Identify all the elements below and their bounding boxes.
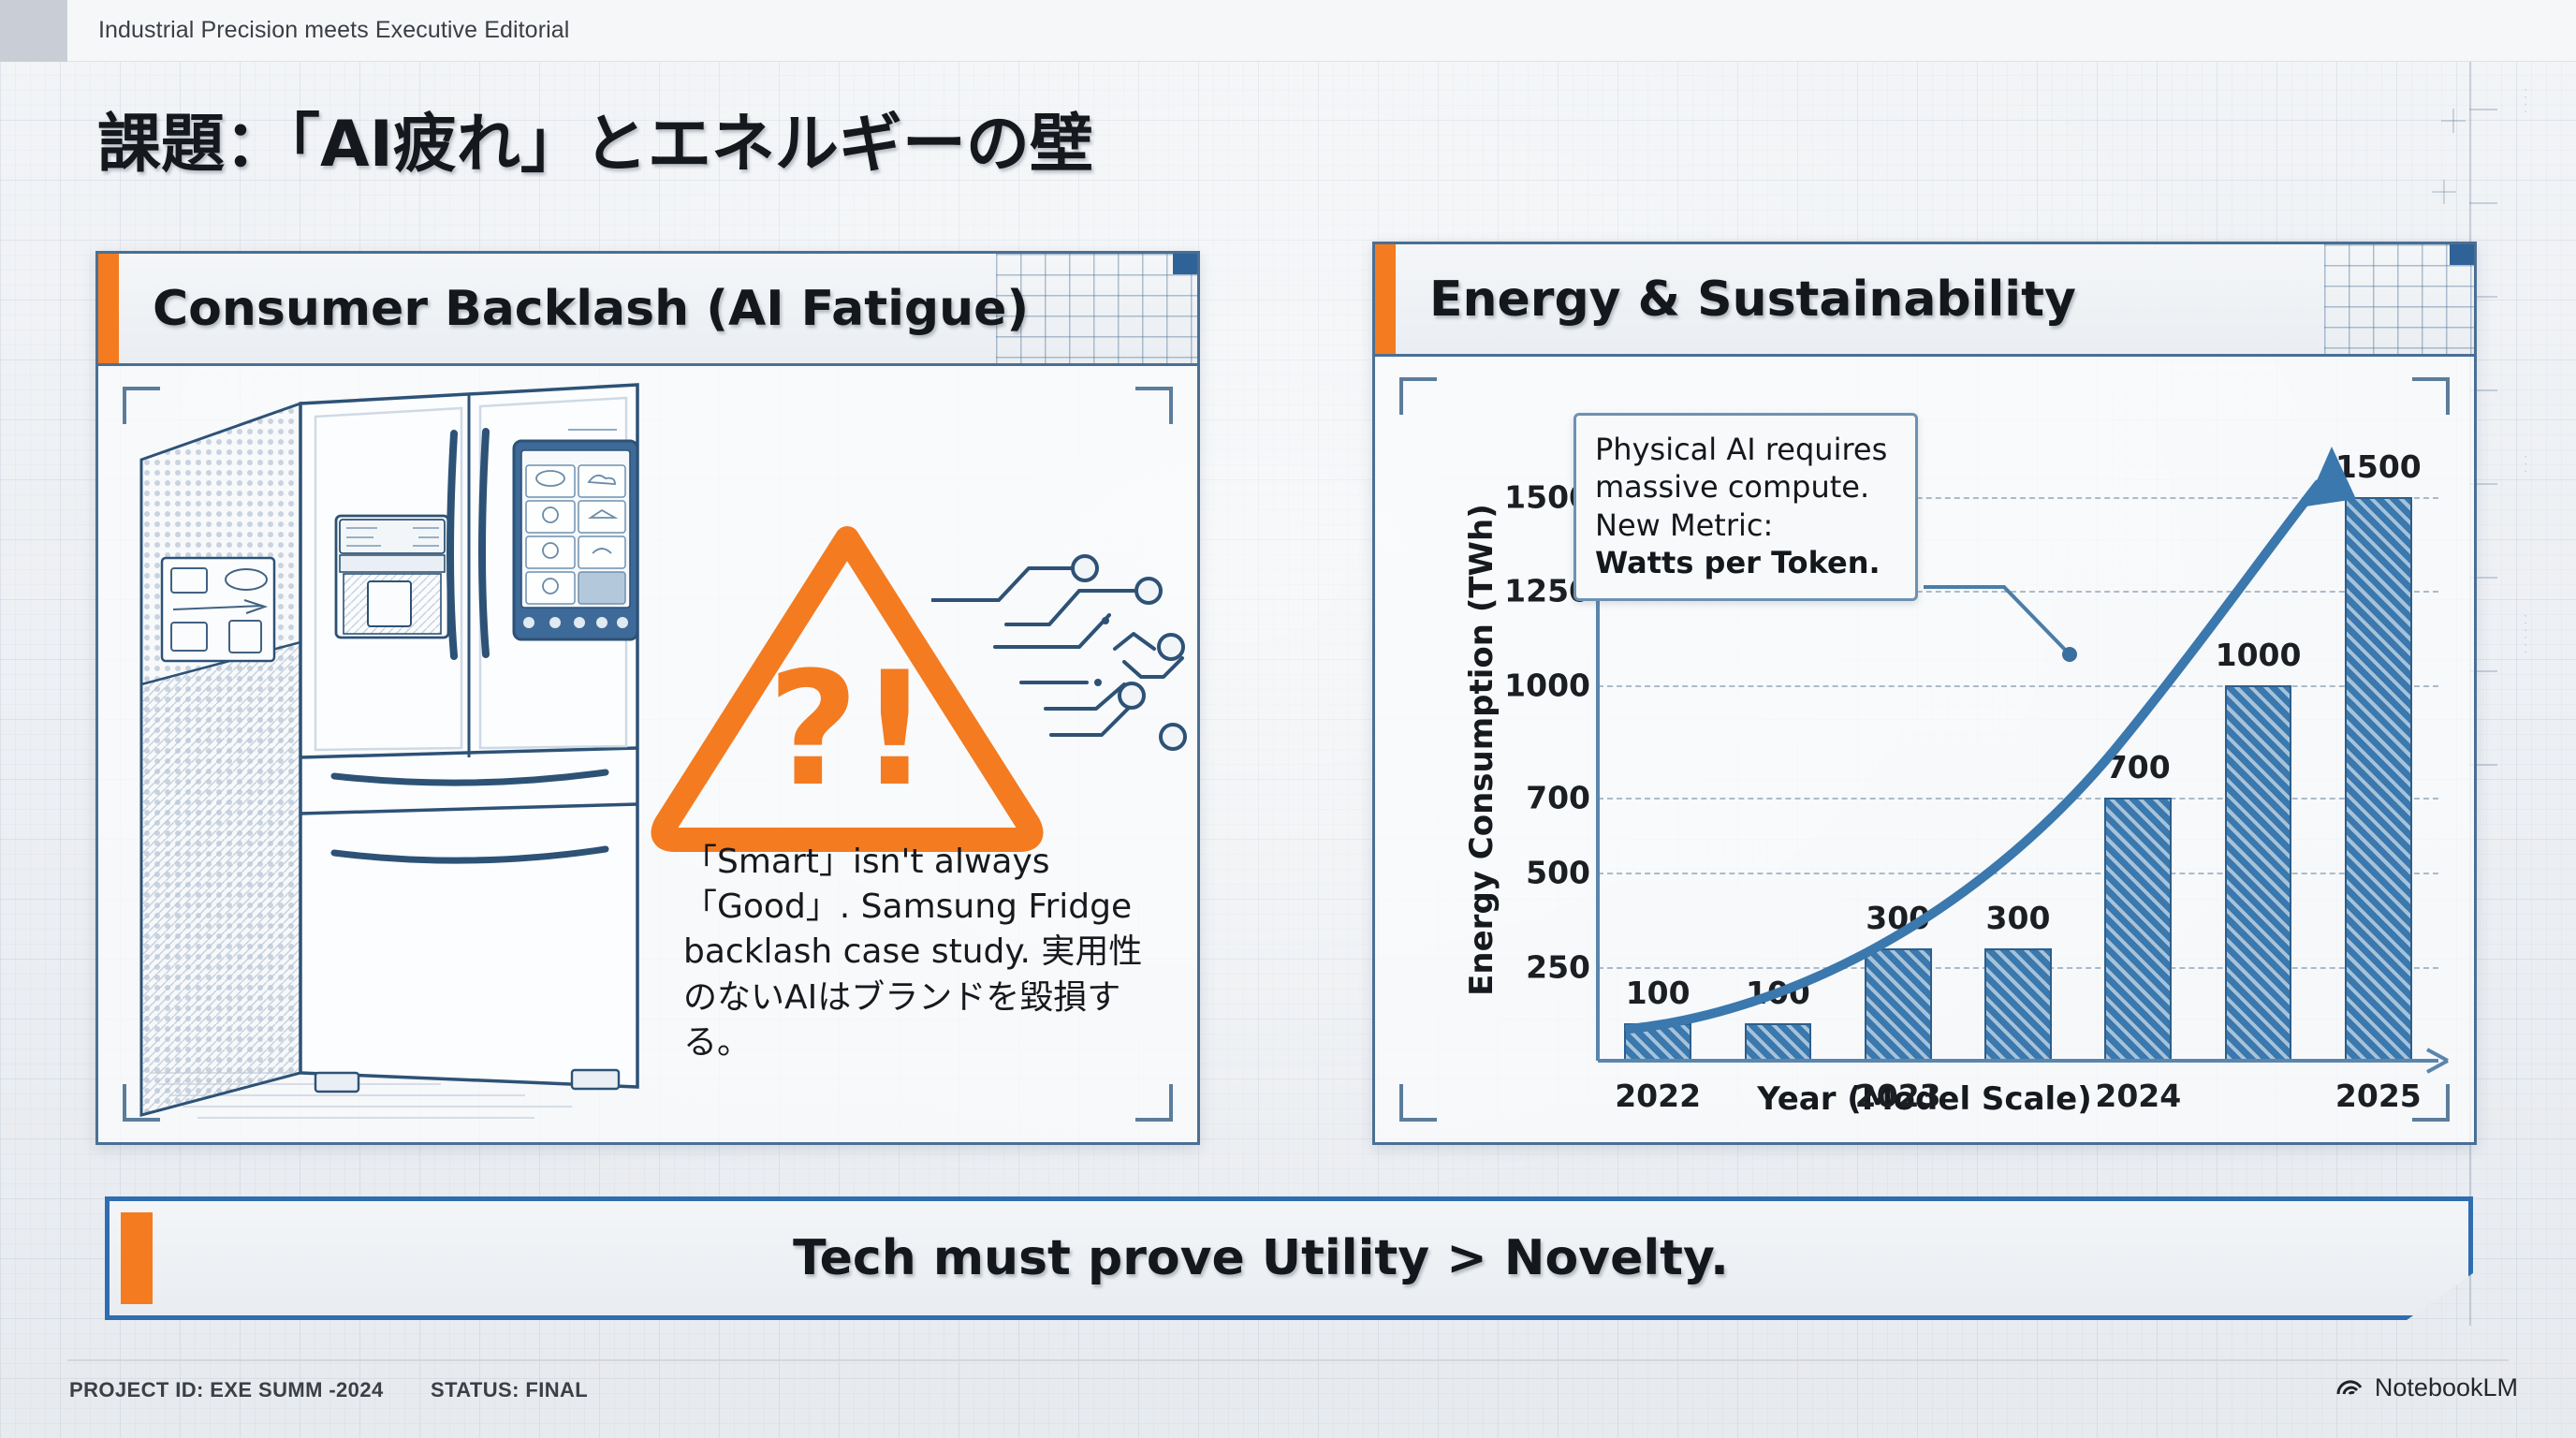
panel-consumer-backlash: Consumer Backlash (AI Fatigue) — [95, 251, 1200, 1145]
panel-right-body: Energy Consumption (TWh) 250500700100012… — [1375, 357, 2474, 1142]
x-tick-label: 2023 — [1855, 1078, 1941, 1114]
banner-text: Tech must prove Utility > Novelty. — [110, 1201, 2468, 1315]
y-tick-label: 1000 — [1504, 667, 1590, 703]
orange-accent-bar — [98, 254, 119, 363]
chart-bar — [1624, 1023, 1691, 1061]
bar-value-label: 1000 — [2216, 637, 2302, 673]
callout-line-2: massive compute. — [1595, 468, 1898, 506]
warning-glyph: ?! — [768, 638, 930, 821]
top-bar-corner-block — [0, 0, 67, 62]
chart-bar — [1984, 948, 2052, 1061]
callout-box: Physical AI requires massive compute. Ne… — [1573, 413, 1918, 601]
bar-value-label: 1500 — [2335, 448, 2422, 485]
chart-bar — [2104, 798, 2172, 1061]
left-panel-caption: 「Smart」isn't always「Good」. Samsung Fridg… — [683, 840, 1170, 1065]
brand-notebooklm: NotebookLM — [2335, 1372, 2518, 1403]
x-tick-label: 2025 — [2335, 1078, 2422, 1114]
hatch-corner-cap — [1173, 254, 1197, 274]
chart-gridline — [1598, 685, 2438, 687]
x-tick-label: 2022 — [1615, 1078, 1701, 1114]
footer-divider — [67, 1359, 2509, 1361]
smart-fridge-illustration — [132, 375, 694, 1143]
header-hatch-pattern — [2324, 244, 2474, 354]
bar-value-label: 700 — [2106, 749, 2171, 785]
y-tick-label: 500 — [1526, 855, 1590, 891]
bar-value-label: 300 — [1866, 900, 1930, 936]
top-bar-label: Industrial Precision meets Executive Edi… — [98, 17, 569, 44]
y-tick-label: 700 — [1526, 780, 1590, 816]
callout-line-4-metric: Watts per Token. — [1595, 544, 1898, 581]
chart-gridline — [1598, 873, 2438, 874]
bar-value-label: 300 — [1986, 900, 2051, 936]
x-tick-label: 2024 — [2095, 1078, 2181, 1114]
chart-gridline — [1598, 798, 2438, 800]
panel-energy-sustainability: Energy & Sustainability Energy Consumpti… — [1372, 242, 2477, 1145]
footer-status: STATUS: FINAL — [431, 1378, 588, 1402]
panel-right-header: Energy & Sustainability — [1375, 244, 2474, 357]
panel-right-title: Energy & Sustainability — [1429, 271, 2076, 328]
brand-label: NotebookLM — [2375, 1373, 2518, 1402]
panel-left-header: Consumer Backlash (AI Fatigue) — [98, 254, 1197, 366]
hatch-corner-cap — [2450, 244, 2474, 265]
orange-accent-bar — [1375, 244, 1396, 354]
slide-canvas: · · · · · · · · · · · · · Industrial Pre… — [0, 0, 2576, 1438]
bar-value-label: 100 — [1746, 975, 1810, 1011]
chart-bar — [1865, 948, 1932, 1061]
y-axis-label-holder: Energy Consumption (TWh) — [1427, 357, 1484, 1142]
callout-line-3: New Metric: — [1595, 506, 1898, 544]
y-tick-label: 250 — [1526, 948, 1590, 985]
corner-bracket-bottom-right — [1135, 1084, 1173, 1122]
page-title: 課題：「AI疲れ」とエネルギーの壁 — [97, 92, 1093, 184]
key-takeaway-banner: Tech must prove Utility > Novelty. — [105, 1196, 2473, 1320]
chart-bar — [2345, 497, 2412, 1061]
corner-bracket-top-right — [1135, 387, 1173, 424]
callout-line-1: Physical AI requires — [1595, 431, 1898, 468]
footer-project-id: PROJECT ID: EXE SUMM -2024 — [69, 1378, 384, 1402]
chart-bar — [2225, 685, 2292, 1061]
bar-value-label: 100 — [1626, 975, 1690, 1011]
chart-bar — [1745, 1023, 1812, 1061]
panel-left-title: Consumer Backlash (AI Fatigue) — [153, 281, 1029, 337]
panel-left-body: ?! 「Smart」isn't always「Good」. Samsung Fr… — [98, 366, 1197, 1142]
energy-consumption-chart: Energy Consumption (TWh) 250500700100012… — [1375, 357, 2474, 1142]
top-bar: Industrial Precision meets Executive Edi… — [0, 0, 2576, 62]
warning-triangle-icon: ?! — [651, 516, 1044, 853]
notebooklm-logo-icon — [2335, 1372, 2364, 1403]
